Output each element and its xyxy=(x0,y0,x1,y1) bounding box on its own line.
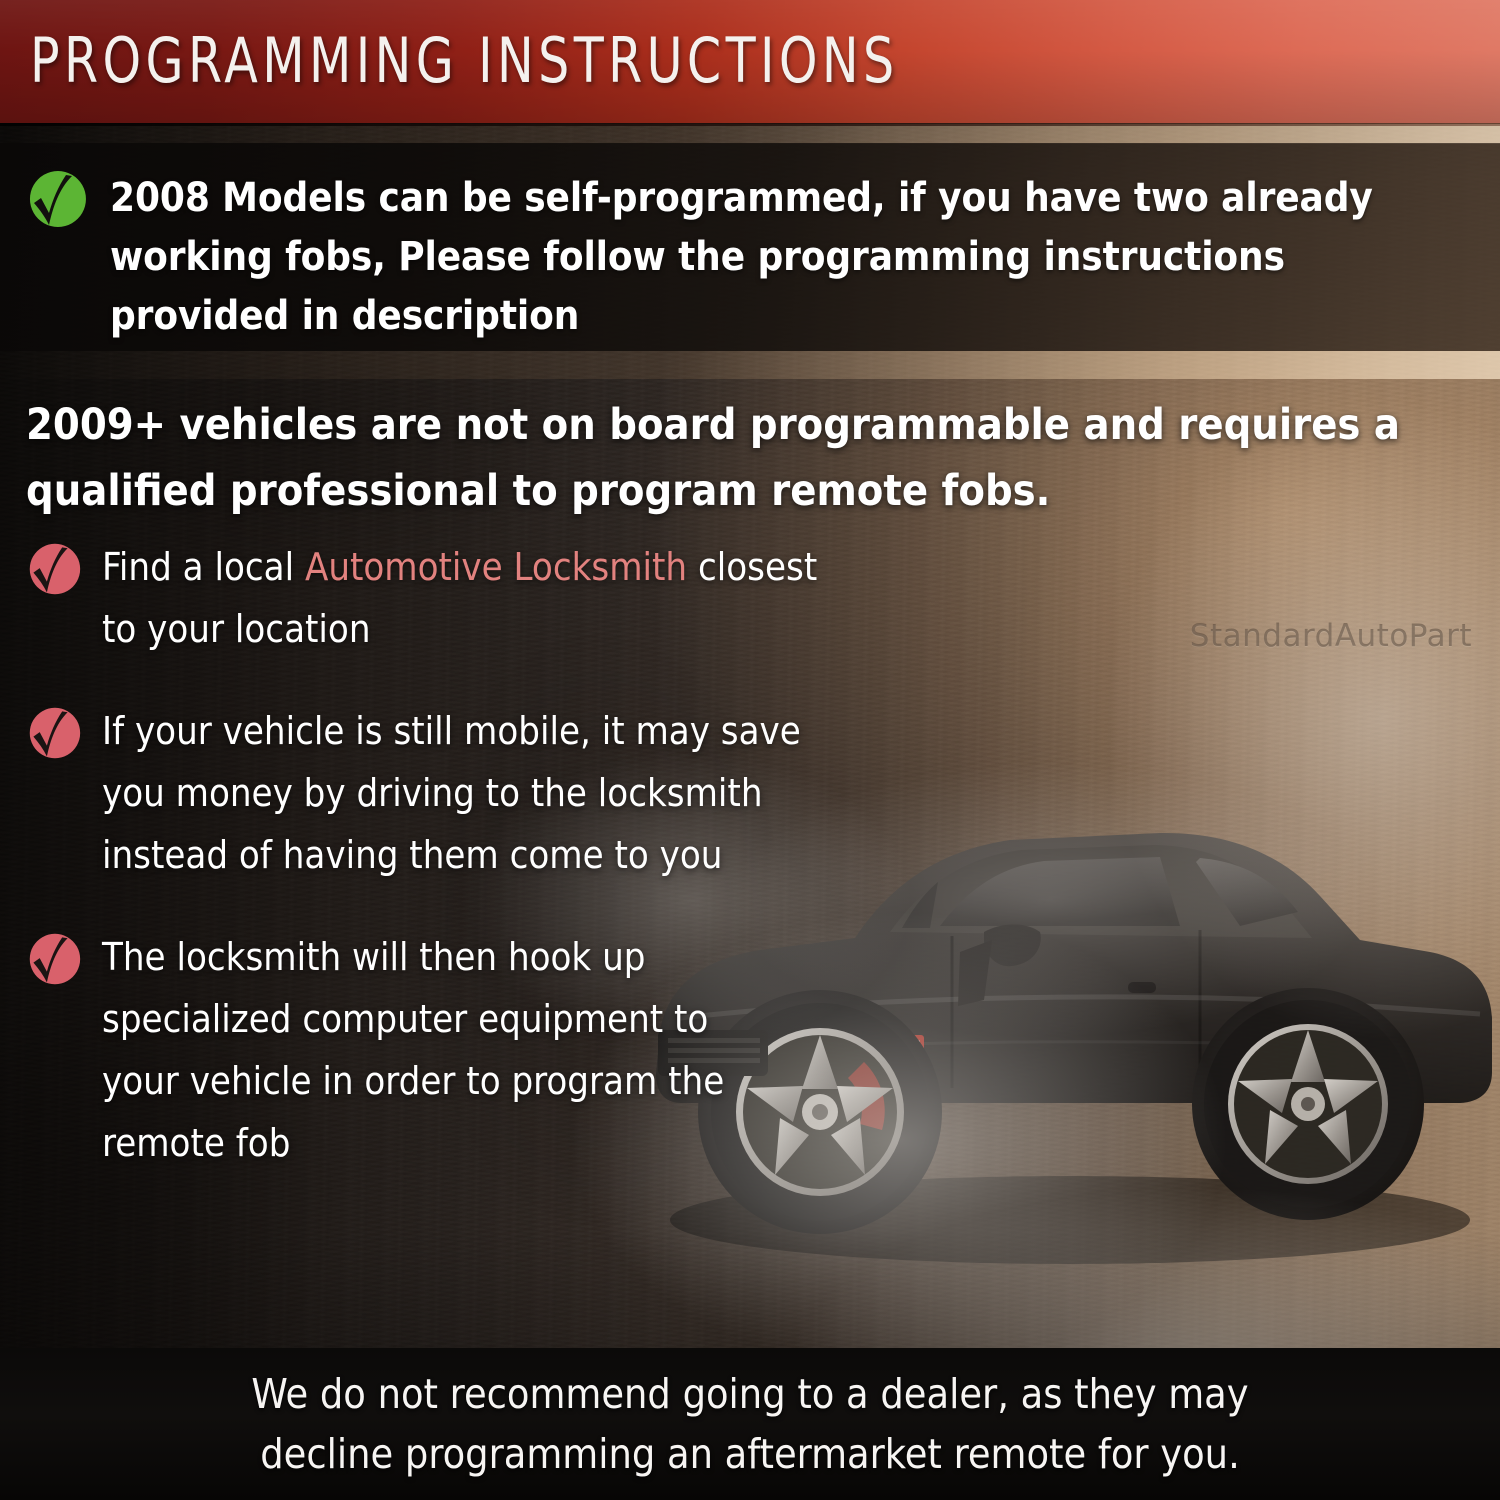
list-item: If your vehicle is still mobile, it may … xyxy=(0,700,820,886)
check-circle-red-icon xyxy=(28,542,82,601)
headline-secondary: 2009+ vehicles are not on board programm… xyxy=(26,392,1456,524)
footer-line-2: decline programming an aftermarket remot… xyxy=(260,1424,1240,1484)
programming-instructions-graphic: PROGRAMMING INSTRUCTIONS 2008 Models can… xyxy=(0,0,1500,1500)
check-circle-red-icon xyxy=(28,706,82,765)
list-item-text: If your vehicle is still mobile, it may … xyxy=(102,700,802,886)
page-title: PROGRAMMING INSTRUCTIONS xyxy=(30,27,899,95)
check-circle-green-icon xyxy=(28,169,88,234)
header-banner: PROGRAMMING INSTRUCTIONS xyxy=(0,0,1500,123)
list-item-text: The locksmith will then hook up speciali… xyxy=(102,926,774,1174)
header-divider xyxy=(0,123,1500,126)
list-item-accent: Automotive Locksmith xyxy=(305,545,687,589)
list-item: The locksmith will then hook up speciali… xyxy=(0,926,820,1174)
note-callout: 2008 Models can be self-programmed, if y… xyxy=(0,143,1500,351)
bullet-list: Find a local Automotive Locksmith closes… xyxy=(0,536,820,1214)
list-item-text: Find a local Automotive Locksmith closes… xyxy=(102,536,820,660)
note-text: 2008 Models can be self-programmed, if y… xyxy=(110,169,1410,346)
check-circle-red-icon xyxy=(28,932,82,991)
list-item-lead: Find a local xyxy=(102,545,305,589)
footer-note: We do not recommend going to a dealer, a… xyxy=(0,1348,1500,1500)
list-item: Find a local Automotive Locksmith closes… xyxy=(0,536,820,660)
footer-line-1: We do not recommend going to a dealer, a… xyxy=(251,1364,1248,1424)
watermark-brand: StandardAutoPart xyxy=(1190,618,1472,654)
